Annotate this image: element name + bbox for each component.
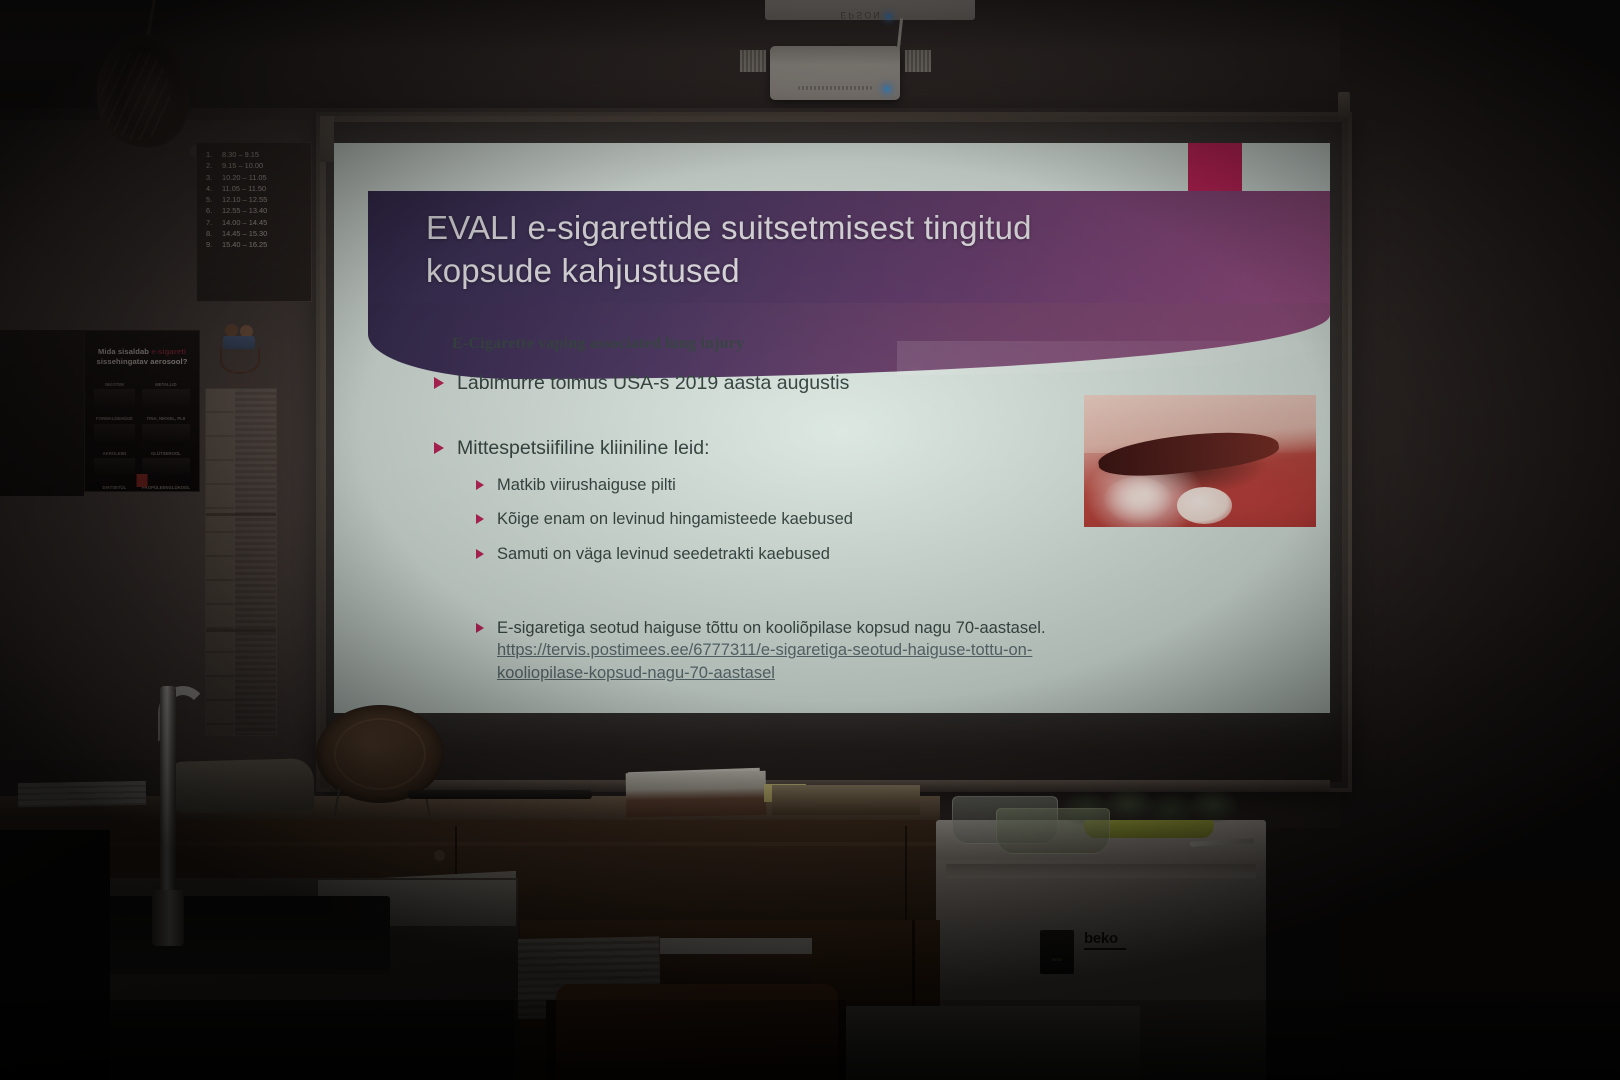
ecig-cell: METALLID: [142, 382, 190, 407]
faucet-base-handle[interactable]: [152, 890, 184, 946]
projector-brand-label: EPSON: [816, 10, 906, 20]
stack-of-books: [772, 785, 920, 815]
ecig-title-line2: sissehingatav: [97, 357, 149, 366]
ecig-cell-heading: DIATSETÜL: [94, 485, 135, 491]
ecig-cell-body: [142, 458, 190, 475]
slide-title: EVALI e-sigarettide suitsetmisest tingit…: [426, 207, 1066, 293]
beko-brand-label: beko: [1084, 930, 1118, 947]
schedule-number: 6.: [206, 205, 217, 216]
wallchart-separator: [206, 629, 276, 632]
ecig-poster-footer-mark: [137, 474, 148, 487]
schedule-row: 2. 9.15 – 10.00: [206, 160, 306, 171]
slide-clinical-photo: [1084, 395, 1316, 527]
bullet-triangle-icon: [476, 549, 484, 559]
ecig-cell: AKROLEIIN: [94, 451, 135, 476]
wall-right: [1340, 0, 1620, 1080]
bullet-triangle-icon: [476, 514, 484, 524]
ecig-cell-body: [142, 424, 190, 441]
ecig-cell-body: [142, 389, 190, 406]
schedule-number: 2.: [206, 160, 217, 171]
freezer-lid-seam: [946, 864, 1256, 878]
schedule-time: 15.40 – 16.25: [222, 239, 267, 250]
projector-body: [770, 46, 900, 100]
schedule-time: 14.00 – 14.45: [222, 217, 267, 228]
whiteboard-marker: [408, 790, 592, 799]
schedule-time: 8.30 – 9.15: [222, 149, 259, 160]
lesson-schedule-poster: 1. 8.30 – 9.15 2. 9.15 – 10.00 3. 10.20 …: [196, 142, 312, 302]
ecigarette-awareness-poster: Mida sisaldab e-sigareti sissehingatav a…: [84, 330, 200, 492]
wallchart-right-column: [235, 389, 276, 735]
projector-bracket-right: [905, 50, 931, 72]
bullet-text: Kõige enam on levinud hingamisteede kaeb…: [497, 509, 853, 530]
source-sentence: E-sigaretiga seotud haiguse tõttu on koo…: [497, 619, 1046, 637]
schedule-row: 5. 12.10 – 12.55: [206, 194, 306, 205]
schedule-time: 10.20 – 11.05: [222, 172, 267, 183]
schedule-number: 1.: [206, 149, 217, 160]
bullet-source-reference: E-sigaretiga seotud haiguse tõttu on koo…: [476, 618, 1314, 684]
schedule-number: 8.: [206, 228, 217, 239]
ecig-cell: TINA, NIKKEL, PLII: [142, 416, 190, 441]
projector-power-led-upper: [886, 14, 891, 19]
wallchart-separator: [206, 513, 276, 516]
schedule-time: 14.45 – 15.30: [222, 228, 267, 239]
rock-specimen: [171, 758, 314, 814]
ecig-cell: NIKOTIIN: [94, 382, 135, 407]
bullet-text: Matkib viirushaiguse pilti: [497, 475, 676, 496]
schedule-row: 8. 14.45 – 15.30: [206, 228, 306, 239]
bullet-spacer: [434, 565, 1314, 605]
ecig-cell-heading: AKROLEIIN: [94, 451, 135, 457]
bullet-triangle-icon: [476, 623, 484, 633]
plate-inner-ring: [334, 718, 426, 790]
ecig-title-line1: Mida sisaldab: [98, 347, 149, 356]
wall-chart-poster: [205, 388, 277, 736]
schedule-time: 12.55 – 13.40: [222, 205, 267, 216]
foreground-dark-mass: [0, 830, 110, 1080]
weee-sticker-text: WEEE: [1040, 958, 1074, 962]
desk-front-edge: [82, 1000, 514, 1080]
schedule-row: 4. 11.05 – 11.50: [206, 183, 306, 194]
ecig-title-highlight: e-sigareti: [151, 347, 186, 356]
source-link-line-1[interactable]: https://tervis.postimees.ee/6777311/e-si…: [497, 640, 1046, 661]
photo-lesion-left: [1103, 477, 1173, 525]
bullet-triangle-icon: [434, 442, 444, 454]
schedule-row: 3. 10.20 – 11.05: [206, 172, 306, 183]
classroom-scene: EPSON EVALI e-sigarettide suitsetmisest …: [0, 0, 1620, 1080]
ecig-cell-heading: PROPÜLEENGLÜKOOL: [142, 485, 190, 491]
weee-sticker: [1040, 930, 1074, 974]
schedule-time: 12.10 – 12.55: [222, 194, 267, 205]
ecig-cell-body: [94, 424, 135, 441]
ecig-cell: PROPÜLEENGLÜKOOL: [142, 485, 190, 492]
ecig-cell: DIATSETÜL: [94, 485, 135, 492]
projector-bracket-left: [740, 50, 766, 72]
schedule-number: 7.: [206, 217, 217, 228]
bullet-text: Läbimurre toimus USA-s 2019 aasta august…: [457, 371, 849, 396]
ecig-cell-body: [94, 458, 135, 475]
ecig-cell-heading: FORMALDEHÜUD: [94, 416, 135, 422]
ecig-cell-heading: METALLID: [142, 382, 190, 388]
projector-vent: [798, 86, 872, 90]
source-text-block: E-sigaretiga seotud haiguse tõttu on koo…: [497, 618, 1046, 684]
stack-of-papers: [626, 771, 767, 817]
ecig-cell-heading: GLÜTSEROOL: [142, 451, 190, 457]
cabinet-rail: [0, 842, 940, 846]
schedule-number: 5.: [206, 194, 217, 205]
ecig-cell: GLÜTSEROOL: [142, 451, 190, 476]
ecig-cell: FORMALDEHÜUD: [94, 416, 135, 441]
whiteboard-corner-top-right: [1338, 92, 1350, 118]
sink-basin: [80, 896, 390, 974]
whiteboard-corner-top-left: [320, 116, 334, 162]
photo-lesion-main: [1177, 487, 1233, 524]
beko-brand-underline: [1084, 948, 1126, 950]
schedule-row: 7. 14.00 – 14.45: [206, 217, 306, 228]
ecig-poster-title: Mida sisaldab e-sigareti sissehingatav a…: [94, 347, 190, 368]
bullet-level2: Samuti on väga levinud seedetrakti kaebu…: [476, 544, 1314, 565]
schedule-time: 9.15 – 10.00: [222, 160, 263, 171]
schedule-number: 4.: [206, 183, 217, 194]
faucet-neck: [160, 686, 176, 924]
papers-left-counter: [18, 781, 146, 807]
side-counter-surface: [840, 1006, 1140, 1080]
bullet-level1: Läbimurre toimus USA-s 2019 aasta august…: [434, 371, 1314, 396]
wallchart-divider: [234, 389, 235, 735]
wall-dark-panel: [0, 330, 84, 496]
schedule-row: 9. 15.40 – 16.25: [206, 239, 306, 250]
ecig-cell-heading: NIKOTIIN: [94, 382, 135, 388]
wallchart-left-column: [206, 389, 234, 735]
ecig-cell-heading: TINA, NIKKEL, PLII: [142, 416, 190, 422]
schedule-number: 9.: [206, 239, 217, 250]
hanging-plant-texture: [100, 52, 170, 140]
ecig-cell-body: [94, 389, 135, 406]
ecig-title-line3: aerosool?: [150, 357, 187, 366]
projected-slide: EVALI e-sigarettide suitsetmisest tingit…: [334, 143, 1330, 713]
bullet-text: Mittespetsiifiline kliiniline leid:: [457, 436, 710, 461]
bullet-text: Samuti on väga levinud seedetrakti kaebu…: [497, 544, 830, 565]
bullet-triangle-icon: [476, 480, 484, 490]
cabinet-knob[interactable]: [434, 850, 445, 861]
schedule-row: 6. 12.55 – 13.40: [206, 205, 306, 216]
schedule-number: 3.: [206, 172, 217, 183]
figurine-ring: [229, 370, 253, 386]
wooden-chair-back: [556, 984, 838, 1080]
bullet-triangle-icon: [434, 377, 444, 389]
schedule-time: 11.05 – 11.50: [222, 183, 266, 194]
slide-subtitle: E-Cigarette vaping associated lung injur…: [452, 335, 744, 353]
glass-bowl-front: [996, 808, 1110, 854]
schedule-row: 1. 8.30 – 9.15: [206, 149, 306, 160]
projector-status-led: [884, 86, 890, 92]
source-link-line-2[interactable]: kooliopilase-kopsud-nagu-70-aastasel: [497, 663, 1046, 684]
wallchart-figurine: [216, 322, 268, 392]
